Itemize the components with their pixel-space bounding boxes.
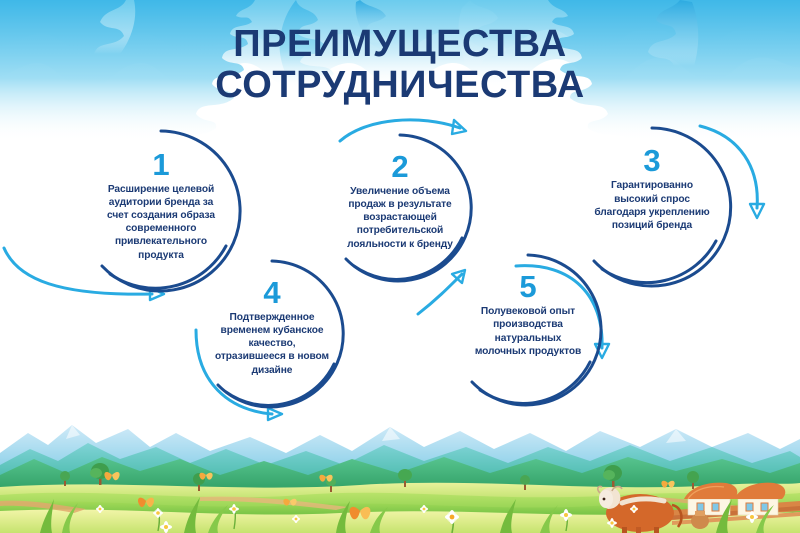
benefit-content-5: 5 Полувековой опыт производства натураль… [469,272,588,387]
benefit-text-5: Полувековой опыт производства натуральны… [469,305,588,358]
benefit-text-3: Гарантированно высокий спрос благодаря у… [590,179,715,232]
benefit-text-4: Подтвержденное временем кубанское качест… [214,311,330,377]
benefit-circle-4[interactable]: 4 Подтвержденное временем кубанское каче… [196,258,348,410]
benefit-content-3: 3 Гарантированно высокий спрос благодаря… [590,146,715,267]
benefit-content-1: 1 Расширение целевой аудитории бренда за… [98,150,224,273]
benefit-content-2: 2 Увеличение объема продаж в результате … [342,152,458,264]
benefit-text-2: Увеличение объема продаж в результате во… [342,185,458,251]
title-line-2: СОТРУДНИЧЕСТВА [0,65,800,106]
benefit-content-4: 4 Подтвержденное временем кубанское каче… [214,278,330,390]
poster-root: ПРЕИМУЩЕСТВА СОТРУДНИЧЕСТВА .arc { fill:… [0,0,800,533]
title-line-1: ПРЕИМУЩЕСТВА [0,24,800,65]
benefit-number-3: 3 [643,146,660,176]
benefit-number-4: 4 [263,278,280,308]
poster-title: ПРЕИМУЩЕСТВА СОТРУДНИЧЕСТВА [0,24,800,106]
benefit-circle-5[interactable]: 5 Полувековой опыт производства натураль… [450,252,606,408]
benefit-number-5: 5 [519,272,536,302]
benefit-number-2: 2 [391,152,408,182]
benefit-text-1: Расширение целевой аудитории бренда за с… [98,183,224,262]
benefit-number-1: 1 [152,150,169,180]
